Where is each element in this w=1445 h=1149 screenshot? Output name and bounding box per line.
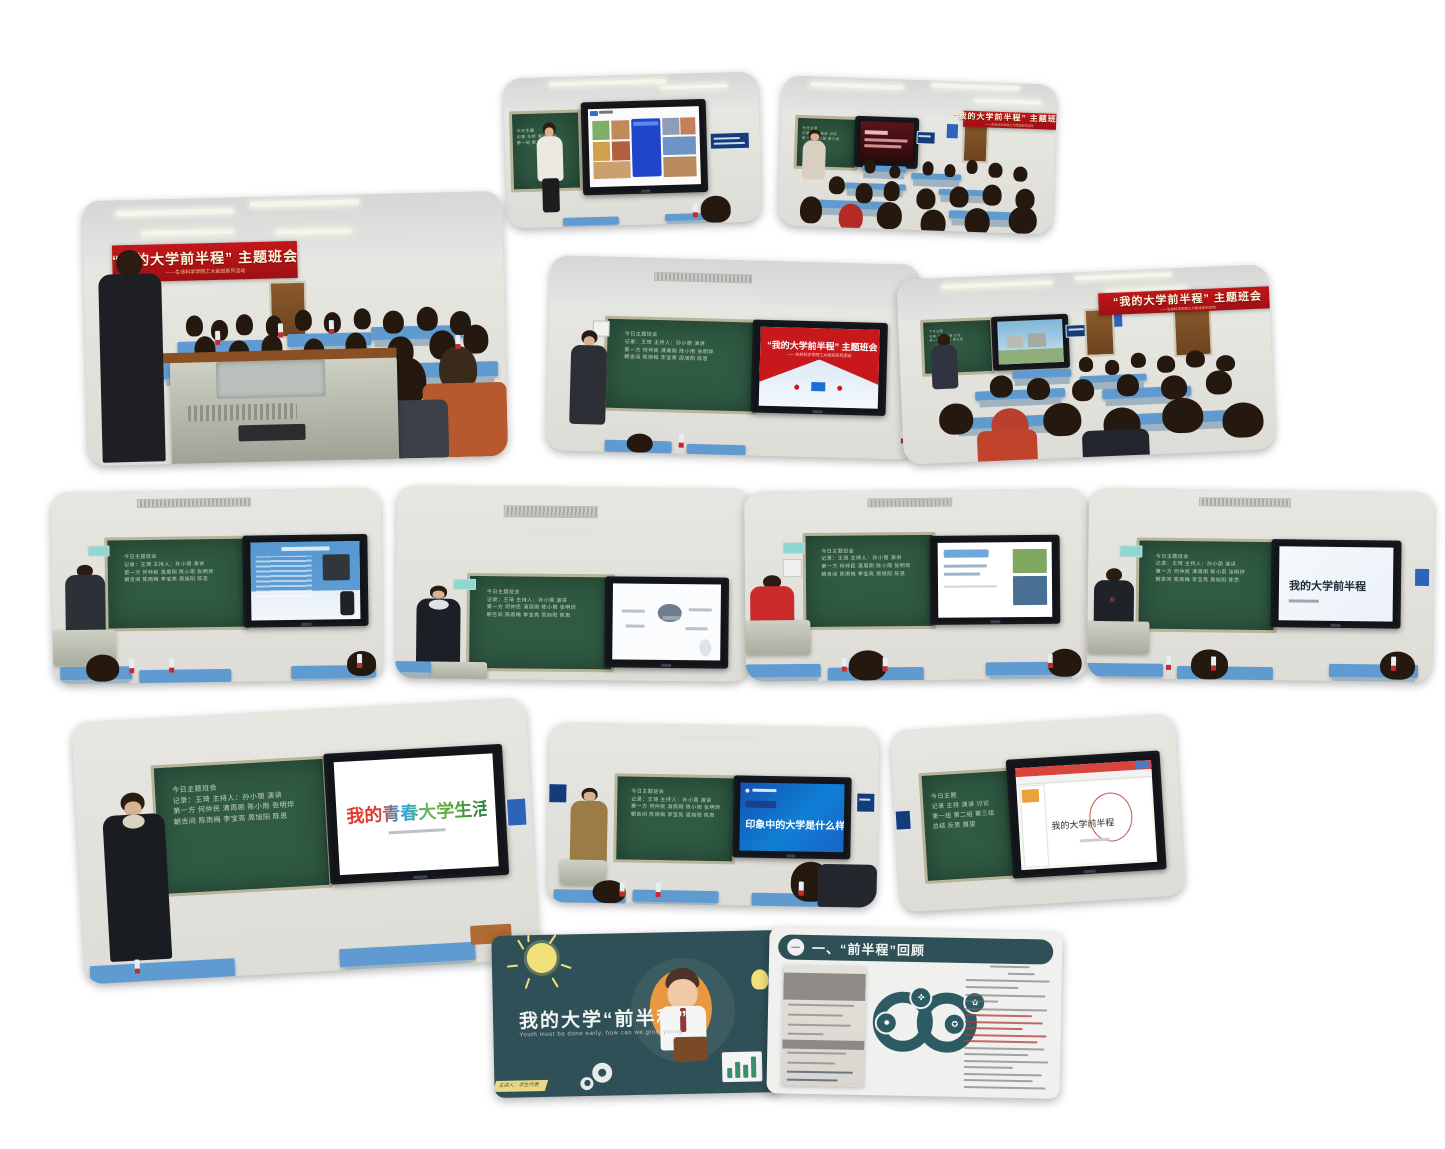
presenter xyxy=(107,792,166,962)
chalk-line: 朝吉间 陈雨梅 李宝亮 周旭阳 陈思 xyxy=(631,812,726,821)
classroom-screen: 我的青春大学生活 xyxy=(323,743,509,885)
chalk-line: 朝吉间 陈雨梅 李宝亮 周旭阳 陈思 xyxy=(487,612,604,621)
collage-canvas: 今日主题 记录 主持 演讲 讨论 第一组 第二组 第三组 xyxy=(0,0,1445,1149)
teacher xyxy=(104,250,160,463)
slide-title: 我的大学前半程 xyxy=(1289,578,1366,595)
slide-header: 一 一、“前半程”回顾 xyxy=(778,934,1054,964)
handwritten-note-photo xyxy=(781,966,865,1087)
slide-heading: 一、“前半程”回顾 xyxy=(812,938,925,959)
photo-card-6[interactable]: 今日主题班会 记录：王琦 主持人：孙小丽 演讲 第一方 何仲民 清周刚 陈小雨 … xyxy=(51,488,384,685)
no-smoking-sign xyxy=(709,132,750,150)
photo-card-12[interactable]: 今日主题 记录 主持 演讲 讨论 第一组 第二组 第三组 总结 反思 展望 我的… xyxy=(890,713,1186,912)
gear-icon-small xyxy=(581,1076,594,1089)
classroom-screen xyxy=(243,534,369,628)
photo-card-10[interactable]: 今日主题班会 记录：王琦 主持人：孙小丽 演讲 第一方 何仲民 清周刚 陈小雨 … xyxy=(71,698,540,985)
section-number: 一 xyxy=(787,938,804,955)
slide-title: 我的青春大学生活 xyxy=(346,794,487,828)
banner-subtitle: ——生命科学学院工大民班系列活动 xyxy=(165,267,245,276)
sun-icon xyxy=(526,943,557,974)
classroom-screen: 印象中的大学是什么样子 xyxy=(732,776,852,860)
classroom-screen: 我的大学前半程 xyxy=(1006,751,1167,879)
classroom-screen xyxy=(605,576,729,668)
photo-card-7[interactable]: 今日主题班会 记录：王琦 主持人：孙小丽 演讲 第一方 何仲民 清周刚 陈小雨 … xyxy=(395,485,752,682)
photo-card-8[interactable]: 今日主题班会 记录：王琦 主持人：孙小丽 演讲 第一方 何仲民 清周刚 陈小雨 … xyxy=(744,489,1089,682)
gear-icon xyxy=(592,1063,612,1083)
presenter xyxy=(537,122,562,213)
chalk-line: 第一方 何仲民 清周刚 陈小雨 张明烨 xyxy=(821,563,925,572)
photo-card-2[interactable]: 今日主题 记录 主持 演讲 讨论 第一组 第二组 第三组 “我的大学前半程” 主… xyxy=(777,75,1057,235)
ppt-review-slide[interactable]: 一 一、“前半程”回顾 ✹ ✜ ✪ ✿ xyxy=(766,927,1062,1099)
photo-card-5[interactable]: 今日主题 记录 主持 演讲 讨论 第一组 第二组 第三组 “我的大学前半程” 主… xyxy=(896,264,1275,464)
ppt-title-slide[interactable]: 我的大学“前半程” Youth must be done early, how … xyxy=(491,930,782,1098)
slide-title: 印象中的大学是什么样子 xyxy=(745,815,844,832)
chalk-line: 朝吉间 陈雨梅 李宝亮 周旭阳 陈思 xyxy=(1155,577,1265,586)
classroom-screen xyxy=(930,534,1060,625)
chalk-line: 朝吉间 陈雨梅 李宝亮 周旭阳 陈思 xyxy=(124,576,238,585)
bar-chart-icon xyxy=(722,1051,763,1082)
chalk-line: 朝吉间 陈雨梅 李宝亮 周旭阳 陈思 xyxy=(821,571,925,580)
review-text-column xyxy=(960,962,1053,1093)
photo-card-1[interactable]: 今日主题 记录 主持 演讲 讨论 第一组 第二组 第三组 xyxy=(503,71,762,228)
classroom-screen xyxy=(580,98,708,194)
photo-card-11[interactable]: 今日主题班会 记录：王琦 主持人：孙小丽 演讲 第一方 何仲民 清周刚 陈小雨 … xyxy=(546,722,879,908)
event-banner: “我的大学前半程” 主题班会 ——生命科学学院工大民班系列活动 xyxy=(963,110,1057,130)
classroom-screen: “我的大学前半程” 主题班会 ——生命科学学院工大民班系列活动 xyxy=(750,319,888,416)
photo-card-4[interactable]: 今日主题班会 记录：王琦 主持人：孙小丽 演讲 第一方 何仲民 清周刚 陈小雨 … xyxy=(546,255,921,460)
presenter-tag: 主讲人：学生代表 xyxy=(493,1079,548,1091)
lightbulb-icon xyxy=(752,969,769,989)
banner-subtitle: ——生命科学学院工大民班系列活动 xyxy=(985,123,1033,129)
photo-card-3[interactable]: “我的大学前半程” 主题班会 ——生命科学学院工大民班系列活动 xyxy=(82,191,508,466)
classroom-screen: 我的大学前半程 xyxy=(1270,540,1401,629)
photo-card-9[interactable]: 今日主题班会 记录：王琦 主持人：孙小丽 演讲 第一方 何仲民 清周刚 陈小雨 … xyxy=(1087,488,1434,682)
